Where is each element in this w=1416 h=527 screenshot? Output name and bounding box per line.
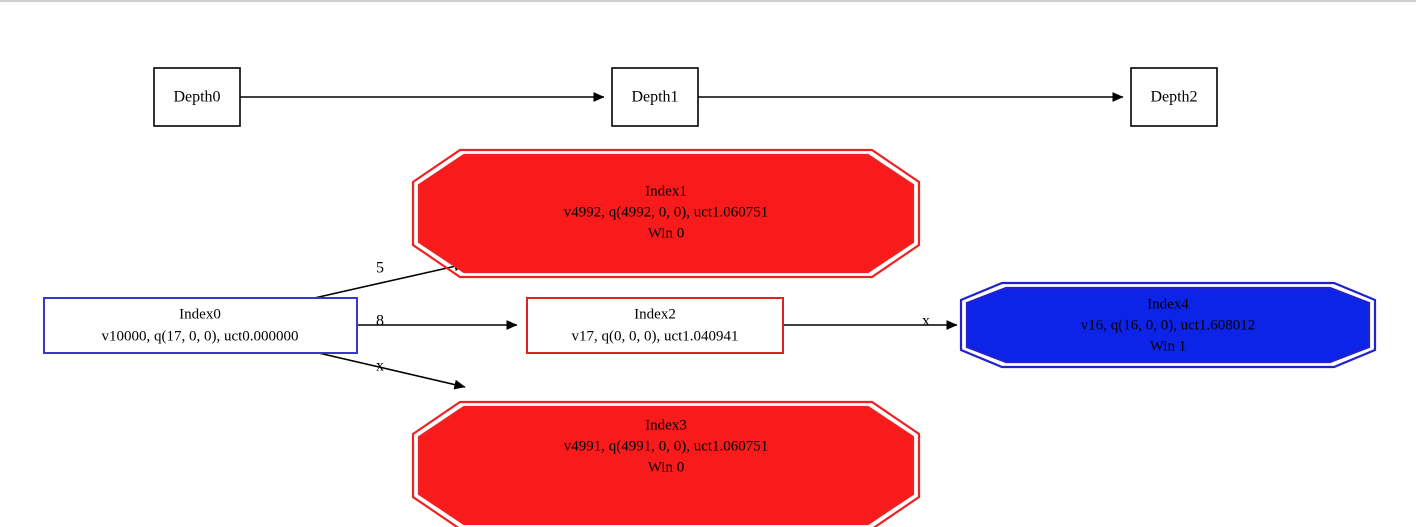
depth0-label: Depth0 [173, 89, 220, 106]
edge-index0-index1 [310, 264, 465, 299]
tree-node-index1[interactable]: Index1 v4992, q(4992, 0, 0), uct1.060751… [413, 150, 919, 277]
index0-line-1: Index0 [179, 306, 221, 322]
depth-rank-row: Depth0 Depth1 Depth2 [154, 68, 1217, 126]
index1-line-2: v4992, q(4992, 0, 0), uct1.060751 [564, 204, 769, 220]
edge-label-index0-index1: 5 [376, 260, 384, 277]
depth-node-depth2: Depth2 [1131, 68, 1217, 126]
index3-line-3: Win 0 [648, 459, 684, 475]
edge-index0-index3 [310, 351, 465, 387]
diagram-canvas: Depth0 Depth1 Depth2 5 8 x [0, 0, 1416, 527]
edge-label-index2-index4: x [922, 313, 930, 330]
index3-line-1: Index3 [645, 417, 687, 433]
index4-line-3: Win 1 [1150, 338, 1186, 354]
graph-svg: Depth0 Depth1 Depth2 5 8 x [0, 2, 1416, 527]
index4-line-1: Index4 [1147, 296, 1189, 312]
index0-line-2: v10000, q(17, 0, 0), uct0.000000 [101, 328, 298, 344]
edge-label-index0-index2: 8 [376, 313, 384, 330]
depth1-label: Depth1 [631, 89, 678, 106]
tree-node-index3[interactable]: Index3 v4991, q(4991, 0, 0), uct1.060751… [413, 402, 919, 527]
index2-line-2: v17, q(0, 0, 0), uct1.040941 [571, 328, 738, 344]
index2-line-1: Index2 [634, 306, 676, 322]
tree-node-index2[interactable]: Index2 v17, q(0, 0, 0), uct1.040941 [527, 298, 783, 353]
index4-line-2: v16, q(16, 0, 0), uct1.608012 [1081, 317, 1256, 333]
depth2-label: Depth2 [1150, 89, 1197, 106]
tree-node-index0[interactable]: Index0 v10000, q(17, 0, 0), uct0.000000 [44, 298, 357, 353]
index1-line-3: Win 0 [648, 225, 684, 241]
edge-label-index0-index3: x [376, 358, 384, 375]
depth-node-depth0: Depth0 [154, 68, 240, 126]
depth-node-depth1: Depth1 [612, 68, 698, 126]
index1-line-1: Index1 [645, 183, 687, 199]
tree-node-index4[interactable]: Index4 v16, q(16, 0, 0), uct1.608012 Win… [961, 283, 1375, 367]
index3-line-2: v4991, q(4991, 0, 0), uct1.060751 [564, 438, 769, 454]
